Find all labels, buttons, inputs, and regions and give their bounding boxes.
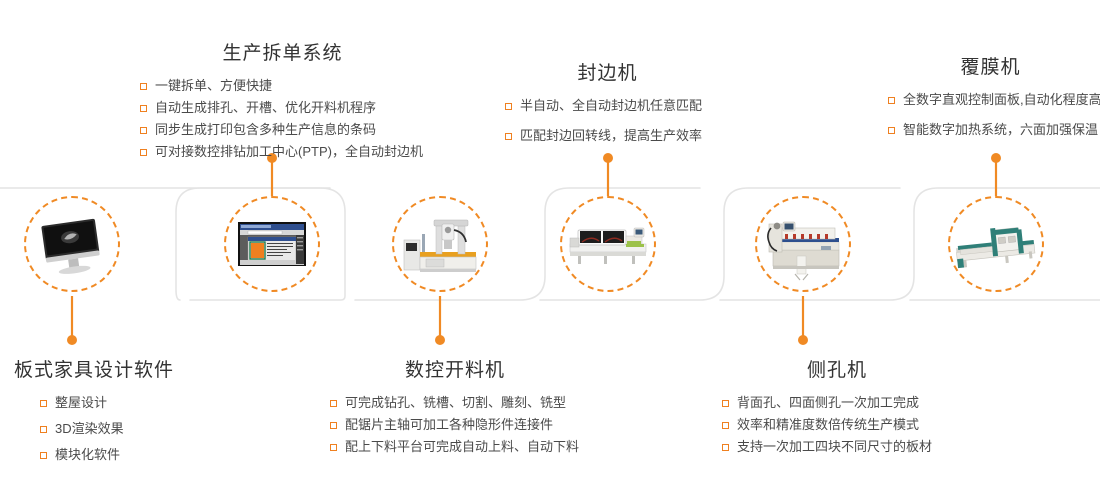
bullet-square-icon — [722, 422, 729, 429]
imac-monitor-icon — [28, 200, 116, 288]
bullet-square-icon — [330, 422, 337, 429]
bullet-text: 支持一次加工四块不同尺寸的板材 — [737, 436, 932, 458]
list-item: 3D渲染效果 — [40, 418, 174, 440]
bullet-square-icon — [40, 400, 47, 407]
bullet-square-icon — [330, 400, 337, 407]
connector-dot-1 — [67, 335, 77, 345]
section-title-side-hole-machine: 侧孔机 — [722, 355, 952, 382]
infographic-canvas: 生产拆单系统 一键拆单、方便快捷 自动生成排孔、开槽、优化开料机程序 同步生成打… — [0, 0, 1100, 495]
node-cnc-cutting-machine[interactable] — [392, 196, 488, 292]
bullet-square-icon — [888, 97, 895, 104]
node-laminating-machine[interactable] — [948, 196, 1044, 292]
list-item: 效率和精准度数倍传统生产模式 — [722, 414, 952, 436]
section-title-split-order-system: 生产拆单系统 — [140, 38, 425, 65]
node-side-hole-machine[interactable] — [755, 196, 851, 292]
list-item: 可对接数控排钻加工中心(PTP)，全自动封边机 — [140, 141, 425, 163]
list-item: 背面孔、四面侧孔一次加工完成 — [722, 392, 952, 414]
bullet-text: 一键拆单、方便快捷 — [155, 75, 272, 97]
list-item: 配锯片主轴可加工各种隐形件连接件 — [330, 414, 580, 436]
list-item: 自动生成排孔、开槽、优化开料机程序 — [140, 97, 425, 119]
bullet-text: 可对接数控排钻加工中心(PTP)，全自动封边机 — [155, 141, 423, 163]
bullet-square-icon — [40, 426, 47, 433]
bullet-square-icon — [722, 444, 729, 451]
text-block-split-order-system: 生产拆单系统 一键拆单、方便快捷 自动生成排孔、开槽、优化开料机程序 同步生成打… — [140, 38, 425, 163]
list-item: 模块化软件 — [40, 444, 174, 466]
text-block-cnc-cutting-machine: 数控开料机 可完成钻孔、铣槽、切割、雕刻、铣型 配锯片主轴可加工各种隐形件连接件… — [330, 355, 580, 458]
bullet-text: 半自动、全自动封边机任意匹配 — [520, 95, 702, 117]
bullet-square-icon — [140, 149, 147, 156]
bullet-text: 可完成钻孔、铣槽、切割、雕刻、铣型 — [345, 392, 566, 414]
bullet-square-icon — [505, 103, 512, 110]
bullet-list-edge-banding-machine: 半自动、全自动封边机任意匹配 匹配封边回转线，提高生产效率 — [505, 95, 710, 147]
connector-dot-5 — [798, 335, 808, 345]
connector-dot-4 — [603, 153, 613, 163]
bullet-list-design-software: 整屋设计 3D渲染效果 模块化软件 — [14, 392, 174, 466]
list-item: 支持一次加工四块不同尺寸的板材 — [722, 436, 952, 458]
node-split-order-system[interactable] — [224, 196, 320, 292]
bullet-text: 同步生成打印包含多种生产信息的条码 — [155, 119, 376, 141]
connector-dot-3 — [435, 335, 445, 345]
bullet-text: 模块化软件 — [55, 444, 120, 466]
bullet-text: 配上下料平台可完成自动上料、自动下料 — [345, 436, 579, 458]
cad-software-screen-icon — [228, 200, 316, 288]
bullet-text: 匹配封边回转线，提高生产效率 — [520, 125, 702, 147]
bullet-square-icon — [140, 127, 147, 134]
bullet-text: 自动生成排孔、开槽、优化开料机程序 — [155, 97, 376, 119]
bullet-text: 3D渲染效果 — [55, 418, 124, 440]
section-title-edge-banding-machine: 封边机 — [505, 58, 710, 85]
side-drilling-machine-icon — [759, 200, 847, 288]
list-item: 同步生成打印包含多种生产信息的条码 — [140, 119, 425, 141]
list-item: 整屋设计 — [40, 392, 174, 414]
bullet-square-icon — [330, 444, 337, 451]
node-edge-banding-machine[interactable] — [560, 196, 656, 292]
bullet-text: 配锯片主轴可加工各种隐形件连接件 — [345, 414, 553, 436]
list-item: 全数字直观控制面板,自动化程度高 — [888, 89, 1100, 111]
list-item: 匹配封边回转线，提高生产效率 — [505, 125, 710, 147]
bullet-list-split-order-system: 一键拆单、方便快捷 自动生成排孔、开槽、优化开料机程序 同步生成打印包含多种生产… — [140, 75, 425, 163]
bullet-text: 智能数字加热系统，六面加强保温 — [903, 119, 1098, 141]
bullet-list-cnc-cutting-machine: 可完成钻孔、铣槽、切割、雕刻、铣型 配锯片主轴可加工各种隐形件连接件 配上下料平… — [330, 392, 580, 458]
bullet-square-icon — [140, 105, 147, 112]
text-block-laminating-machine: 覆膜机 全数字直观控制面板,自动化程度高 智能数字加热系统，六面加强保温 — [888, 52, 1100, 141]
list-item: 智能数字加热系统，六面加强保温 — [888, 119, 1100, 141]
edge-banding-machine-icon — [564, 200, 652, 288]
bullet-text: 背面孔、四面侧孔一次加工完成 — [737, 392, 919, 414]
connector-dot-6 — [991, 153, 1001, 163]
bullet-list-laminating-machine: 全数字直观控制面板,自动化程度高 智能数字加热系统，六面加强保温 — [888, 89, 1100, 141]
cnc-router-machine-icon — [396, 200, 484, 288]
bullet-text: 全数字直观控制面板,自动化程度高 — [903, 89, 1100, 111]
bullet-square-icon — [40, 452, 47, 459]
section-title-cnc-cutting-machine: 数控开料机 — [330, 355, 580, 382]
section-title-design-software: 板式家具设计软件 — [14, 355, 174, 382]
text-block-edge-banding-machine: 封边机 半自动、全自动封边机任意匹配 匹配封边回转线，提高生产效率 — [505, 58, 710, 147]
bullet-text: 整屋设计 — [55, 392, 107, 414]
bullet-square-icon — [505, 133, 512, 140]
bullet-text: 效率和精准度数倍传统生产模式 — [737, 414, 919, 436]
bullet-square-icon — [722, 400, 729, 407]
bullet-list-side-hole-machine: 背面孔、四面侧孔一次加工完成 效率和精准度数倍传统生产模式 支持一次加工四块不同… — [722, 392, 952, 458]
bullet-square-icon — [140, 83, 147, 90]
text-block-design-software: 板式家具设计软件 整屋设计 3D渲染效果 模块化软件 — [14, 355, 174, 466]
section-title-laminating-machine: 覆膜机 — [888, 52, 1093, 79]
text-block-side-hole-machine: 侧孔机 背面孔、四面侧孔一次加工完成 效率和精准度数倍传统生产模式 支持一次加工… — [722, 355, 952, 458]
laminating-machine-icon — [952, 200, 1040, 288]
list-item: 可完成钻孔、铣槽、切割、雕刻、铣型 — [330, 392, 580, 414]
bullet-square-icon — [888, 127, 895, 134]
node-design-software[interactable] — [24, 196, 120, 292]
list-item: 一键拆单、方便快捷 — [140, 75, 425, 97]
list-item: 配上下料平台可完成自动上料、自动下料 — [330, 436, 580, 458]
list-item: 半自动、全自动封边机任意匹配 — [505, 95, 710, 117]
